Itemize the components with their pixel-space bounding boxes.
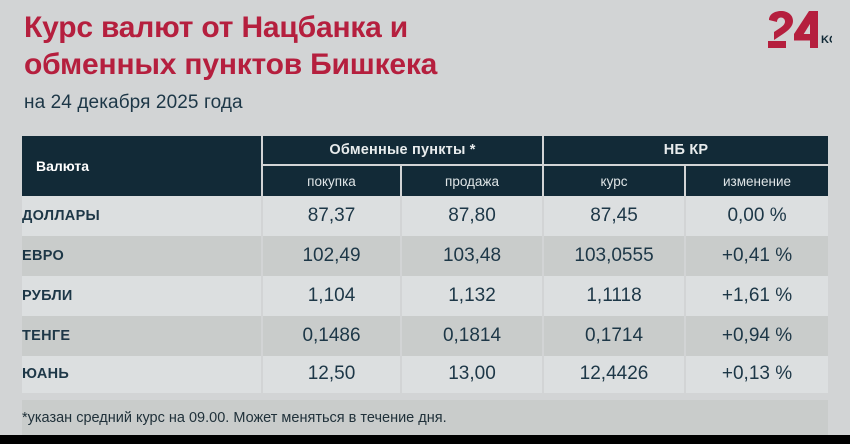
cell-buy: 87,37 [262,196,401,236]
currency-rates-table: Валюта Обменные пункты * НБ КР покупка п… [22,136,828,436]
table-row: ТЕНГЕ 0,1486 0,1814 0,1714 +0,94 % [22,316,828,356]
column-group-header-national-bank: НБ КР [543,136,828,165]
column-group-header-exchange-offices: Обменные пункты * [262,136,543,165]
cell-rate: 103,0555 [543,236,685,276]
cell-sell: 13,00 [401,356,543,396]
table-row: ДОЛЛАРЫ 87,37 87,80 87,45 0,00 % [22,196,828,236]
page-title: Курс валют от Нацбанка и обменных пункто… [24,10,644,83]
cell-rate: 87,45 [543,196,685,236]
cell-change: +0,94 % [685,316,828,356]
table-row: ЕВРО 102,49 103,48 103,0555 +0,41 % [22,236,828,276]
cell-sell: 0,1814 [401,316,543,356]
table-row: ЮАНЬ 12,50 13,00 12,4426 +0,13 % [22,356,828,396]
table-footnote-row: *указан средний курс на 09.00. Может мен… [22,396,828,436]
page-title-line-1: Курс валют от Нацбанка и [24,10,644,47]
cell-sell: 1,132 [401,276,543,316]
cell-currency: ЕВРО [22,236,262,276]
cell-currency: РУБЛИ [22,276,262,316]
column-header-sell: продажа [401,165,543,196]
cell-rate: 12,4426 [543,356,685,396]
table-header: Валюта Обменные пункты * НБ КР покупка п… [22,136,828,196]
cell-rate: 0,1714 [543,316,685,356]
cell-rate: 1,1118 [543,276,685,316]
cell-sell: 103,48 [401,236,543,276]
bottom-bar [0,435,850,444]
cell-buy: 1,104 [262,276,401,316]
cell-change: +1,61 % [685,276,828,316]
cell-change: +0,41 % [685,236,828,276]
page-subtitle-date: на 24 декабря 2025 года [24,92,243,114]
table-row: РУБЛИ 1,104 1,132 1,1118 +1,61 % [22,276,828,316]
header-area: Курс валют от Нацбанка и обменных пункто… [0,0,850,130]
cell-buy: 0,1486 [262,316,401,356]
table-body: ДОЛЛАРЫ 87,37 87,80 87,45 0,00 % ЕВРО 10… [22,196,828,436]
table-footnote: *указан средний курс на 09.00. Может мен… [22,396,828,436]
page-title-line-2: обменных пунктов Бишкека [24,47,644,84]
logo-suffix-text: KG [821,34,832,46]
column-header-rate: курс [543,165,685,196]
cell-currency: ДОЛЛАРЫ [22,196,262,236]
cell-currency: ТЕНГЕ [22,316,262,356]
column-header-currency: Валюта [22,136,262,196]
logo-icon: KG [766,10,832,54]
column-header-change: изменение [685,165,828,196]
24-kg-logo[interactable]: KG [766,10,832,54]
cell-change: +0,13 % [685,356,828,396]
cell-change: 0,00 % [685,196,828,236]
cell-currency: ЮАНЬ [22,356,262,396]
cell-sell: 87,80 [401,196,543,236]
column-header-buy: покупка [262,165,401,196]
cell-buy: 102,49 [262,236,401,276]
cell-buy: 12,50 [262,356,401,396]
table-header-group-row: Валюта Обменные пункты * НБ КР [22,136,828,165]
